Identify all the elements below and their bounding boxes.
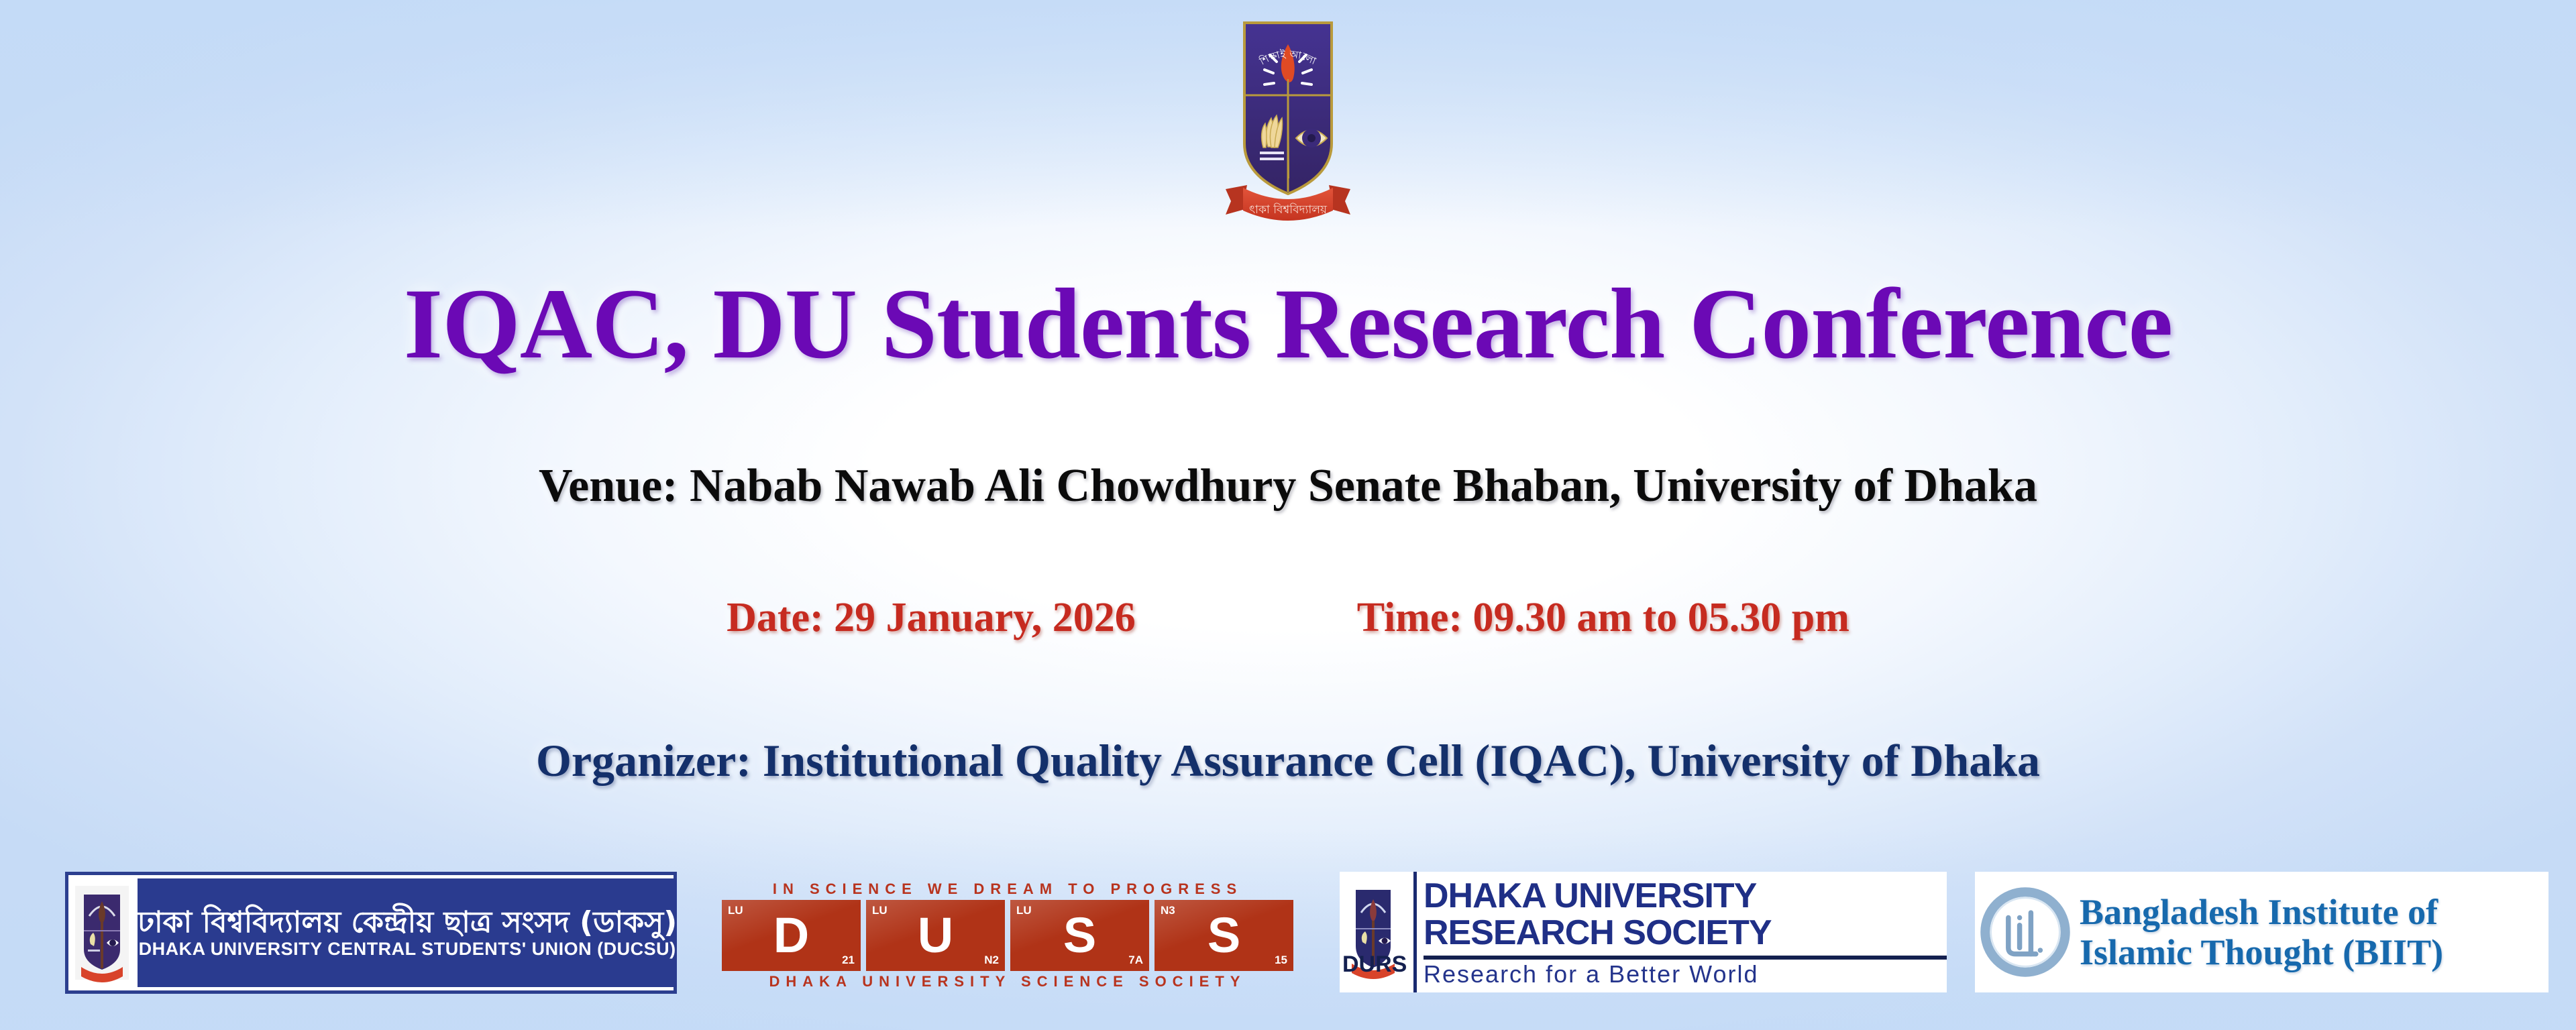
durs-rule xyxy=(1424,956,1947,960)
ducsu-bangla-name: ঢাকা বিশ্ববিদ্যালয় কেন্দ্রীয় ছাত্র সংসদ … xyxy=(138,908,677,937)
biit-emblem-icon xyxy=(1975,885,2076,979)
duss-tile-letter: U xyxy=(918,911,953,960)
duss-tile-topleft: LU xyxy=(872,904,888,917)
organizer-line: Organizer: Institutional Quality Assuran… xyxy=(0,738,2576,783)
duss-element-tiles: LU D 21 LU U N2 LU S 7A N3 S 15 xyxy=(722,900,1293,971)
conference-banner: শিক্ষাই আলো ৎাকা বিশ্ববিদ্যালয় IQAC, DU … xyxy=(0,0,2576,1030)
durs-divider xyxy=(1413,872,1417,992)
duss-tile-topleft: N3 xyxy=(1161,904,1175,917)
durs-logo: DHAKA UNIVERSITY RESEARCH SOCIETY Resear… xyxy=(1340,872,1947,992)
duss-tile-topleft: LU xyxy=(1016,904,1032,917)
date-text: Date: 29 January, 2026 xyxy=(727,597,1136,638)
time-text: Time: 09.30 am to 05.30 pm xyxy=(1357,597,1849,638)
ducsu-english-name: DHAKA UNIVERSITY CENTRAL STUDENTS' UNION… xyxy=(139,940,676,958)
durs-tagline: Research for a Better World xyxy=(1424,962,1947,986)
duss-tile-letter: D xyxy=(773,911,809,960)
biit-line-1: Bangladesh Institute of xyxy=(2080,892,2548,932)
duss-tagline-bottom: DHAKA UNIVERSITY SCIENCE SOCIETY xyxy=(769,974,1246,989)
duss-tile-bottomright: 15 xyxy=(1275,954,1287,967)
duss-tile: N3 S 15 xyxy=(1155,900,1293,971)
durs-line-1: DHAKA UNIVERSITY xyxy=(1424,878,1947,915)
duss-tile-letter: S xyxy=(1207,911,1240,960)
date-time-row: Date: 29 January, 2026 Time: 09.30 am to… xyxy=(0,597,2576,638)
duss-tile-bottomright: N2 xyxy=(984,954,999,967)
duss-logo: IN SCIENCE WE DREAM TO PROGRESS LU D 21 … xyxy=(712,872,1303,999)
venue-line: Venue: Nabab Nawab Ali Chowdhury Senate … xyxy=(0,463,2576,510)
biit-text-block: Bangladesh Institute of Islamic Thought … xyxy=(2076,892,2548,973)
duss-tile-bottomright: 7A xyxy=(1128,954,1143,967)
durs-line-2: RESEARCH SOCIETY xyxy=(1424,915,1947,952)
sponsor-logo-strip: ঢাকা বিশ্ববিদ্যালয় কেন্দ্রীয় ছাত্র সংসদ … xyxy=(0,872,2576,999)
ducsu-text-panel: ঢাকা বিশ্ববিদ্যালয় কেন্দ্রীয় ছাত্র সংসদ … xyxy=(138,878,677,987)
duss-tile: LU D 21 xyxy=(722,900,861,971)
duss-tile-bottomright: 21 xyxy=(842,954,855,967)
ducsu-crest-icon xyxy=(72,878,132,987)
duss-tile: LU S 7A xyxy=(1010,900,1149,971)
ducsu-logo: ঢাকা বিশ্ববিদ্যালয় কেন্দ্রীয় ছাত্র সংসদ … xyxy=(65,872,677,994)
durs-text-block: DHAKA UNIVERSITY RESEARCH SOCIETY Resear… xyxy=(1424,878,1947,986)
duss-tile-letter: S xyxy=(1063,911,1096,960)
conference-title: IQAC, DU Students Research Conference xyxy=(0,274,2576,374)
duss-tagline-top: IN SCIENCE WE DREAM TO PROGRESS xyxy=(773,882,1242,897)
university-of-dhaka-crest: শিক্ষাই আলো ৎাকা বিশ্ববিদ্যালয় xyxy=(1204,9,1372,244)
duss-tile: LU U N2 xyxy=(866,900,1005,971)
biit-line-2: Islamic Thought (BIIT) xyxy=(2080,932,2548,972)
svg-text:ৎাকা বিশ্ববিদ্যালয়: ৎাকা বিশ্ববিদ্যালয় xyxy=(1249,203,1328,217)
biit-logo: Bangladesh Institute of Islamic Thought … xyxy=(1975,872,2548,992)
durs-abbreviation: DURS xyxy=(1342,952,1407,978)
duss-tile-topleft: LU xyxy=(728,904,743,917)
